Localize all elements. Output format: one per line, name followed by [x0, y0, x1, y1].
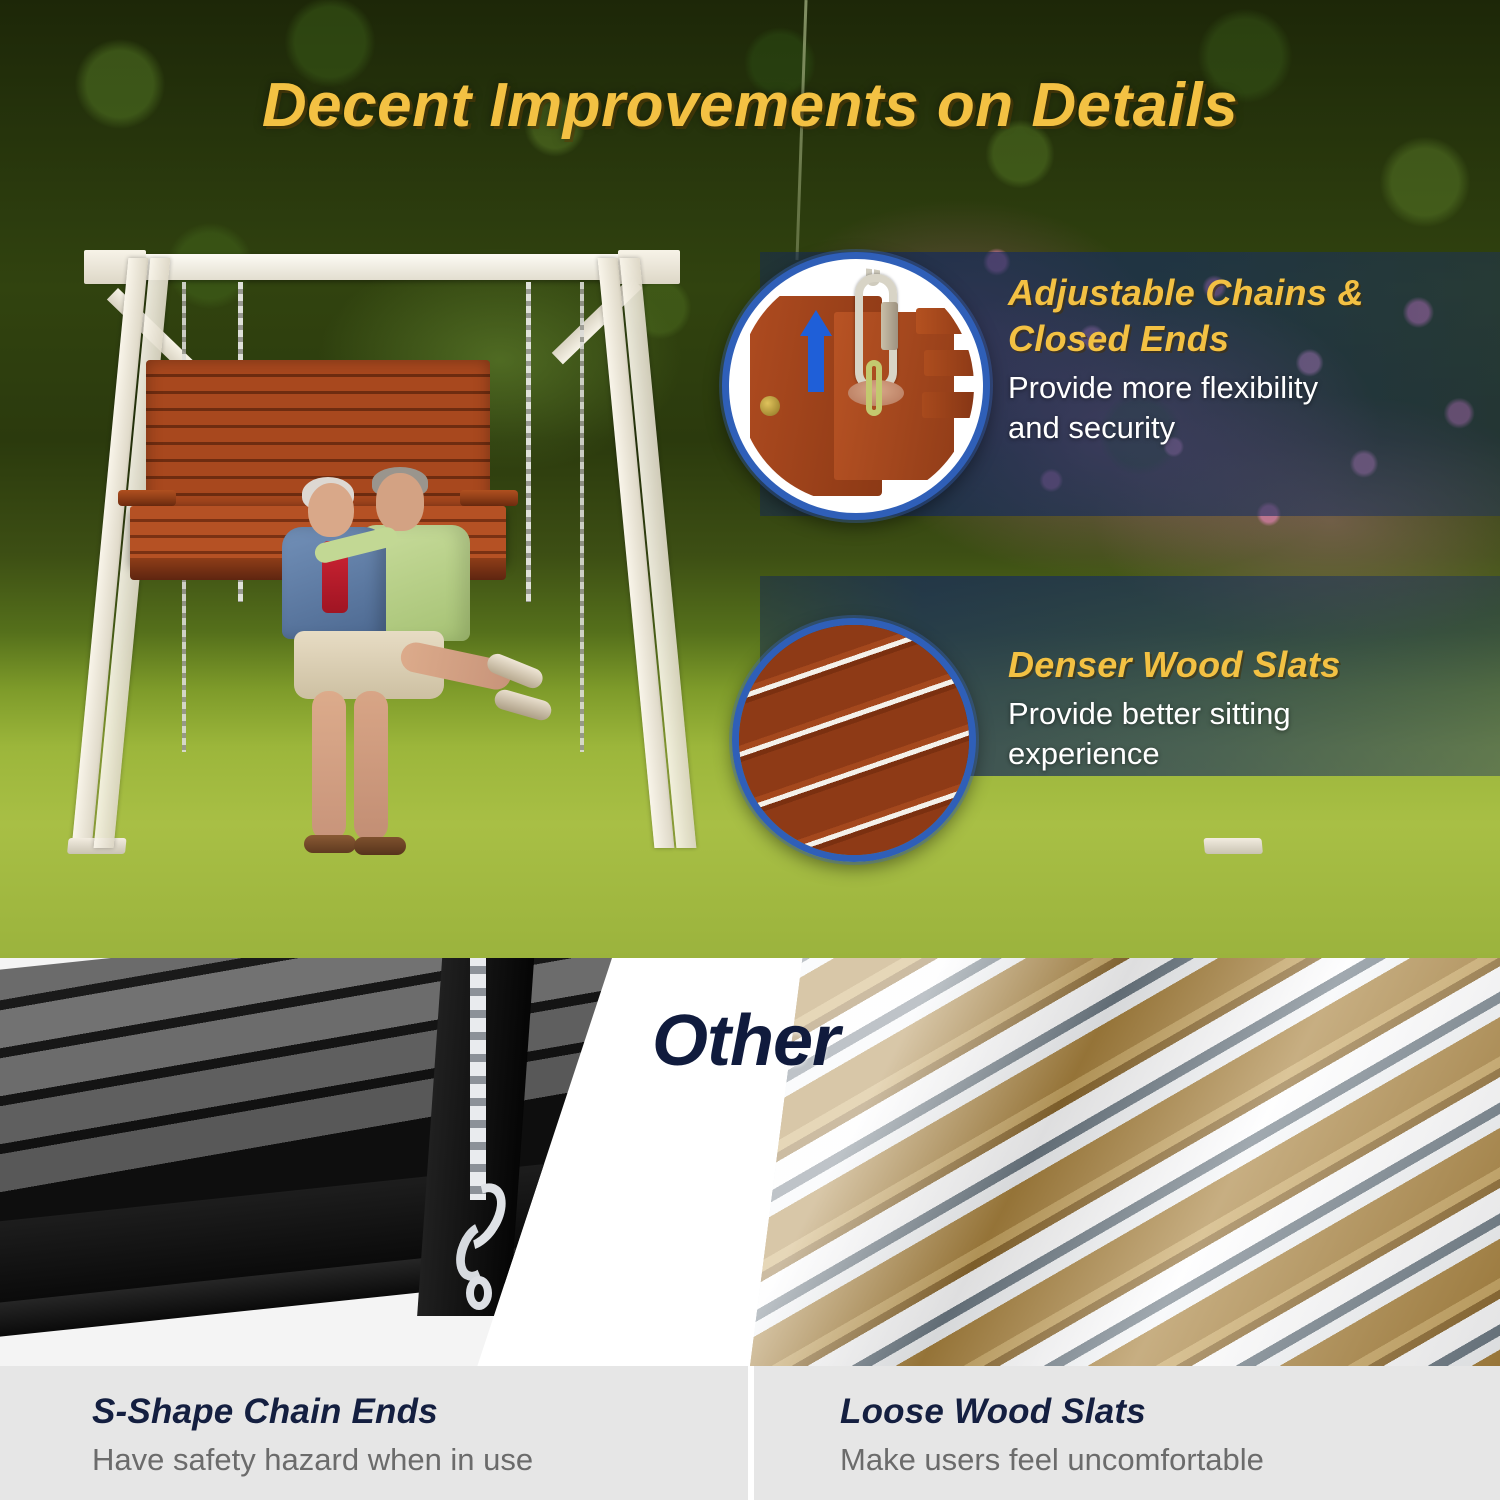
hanging-chain	[470, 958, 486, 1200]
slat-end-3	[922, 392, 974, 418]
chain-o-ring	[466, 1276, 492, 1310]
caption-loose-wood-slats: Loose Wood Slats Make users feel uncomfo…	[840, 1392, 1264, 1478]
caption-right-title: Loose Wood Slats	[840, 1392, 1264, 1432]
caption-divider	[748, 1366, 754, 1500]
feature-2-desc-line1: Provide better sitting	[1008, 694, 1478, 734]
caption-left-sub: Have safety hazard when in use	[92, 1442, 533, 1478]
seated-couple	[250, 455, 510, 875]
caption-left-title: S-Shape Chain Ends	[92, 1392, 533, 1432]
feature-2-title-line1: Denser Wood Slats	[1008, 642, 1478, 688]
frame-foot-right	[1203, 838, 1263, 854]
caption-s-shape-chain-ends: S-Shape Chain Ends Have safety hazard wh…	[92, 1392, 533, 1478]
page-title: Decent Improvements on Details	[0, 70, 1500, 141]
feature-1-desc: Provide more flexibility and security	[1008, 368, 1478, 449]
bench-armrest-left	[118, 490, 176, 506]
slat-light-shadow	[750, 958, 1500, 1366]
dense-wood-slat-pattern	[732, 618, 976, 862]
carabiner-screw-sleeve	[881, 302, 898, 350]
brass-screw-icon	[760, 396, 780, 416]
swing-chain-right	[526, 282, 531, 602]
man-head	[376, 473, 424, 531]
swing-chain-outer-right	[580, 282, 584, 752]
leg-right	[354, 691, 388, 841]
caption-bar: S-Shape Chain Ends Have safety hazard wh…	[0, 1366, 1500, 1500]
callout-circle-adjustable-chains	[722, 252, 990, 520]
callout-circle-denser-slats	[732, 618, 976, 862]
dense-slats-photo	[739, 625, 969, 855]
caption-right-sub: Make users feel uncomfortable	[840, 1442, 1264, 1478]
feature-2-desc: Provide better sitting experience	[1008, 694, 1478, 775]
sandal-right	[354, 837, 406, 855]
photo-s-shape-chain-ends	[0, 958, 612, 1366]
chain-closeup-photo	[738, 268, 974, 504]
feature-text-denser-slats: Denser Wood Slats Provide better sitting…	[1008, 642, 1478, 775]
slat-end-1	[916, 308, 974, 334]
sandal-left	[304, 835, 356, 853]
feature-1-desc-line1: Provide more flexibility	[1008, 368, 1478, 408]
leg-left	[312, 691, 346, 841]
feature-2-desc-line2: experience	[1008, 734, 1478, 774]
feature-1-title-line2: Closed Ends	[1008, 316, 1478, 362]
feature-1-title-line1: Adjustable Chains &	[1008, 270, 1478, 316]
other-heading: Other	[652, 1000, 839, 1082]
feature-1-desc-line2: and security	[1008, 408, 1478, 448]
top-beam	[92, 254, 672, 280]
photo-loose-wood-slats	[750, 958, 1500, 1366]
chain-link-lower	[866, 360, 882, 416]
feature-text-adjustable-chains: Adjustable Chains & Closed Ends Provide …	[1008, 270, 1478, 449]
woman-head	[308, 483, 354, 537]
product-feature-infographic: Decent Improvements on Details	[0, 0, 1500, 1500]
feature-1-title: Adjustable Chains & Closed Ends	[1008, 270, 1478, 362]
feature-2-title: Denser Wood Slats	[1008, 642, 1478, 688]
slat-end-2	[924, 350, 974, 376]
hero-section: Decent Improvements on Details	[0, 0, 1500, 958]
